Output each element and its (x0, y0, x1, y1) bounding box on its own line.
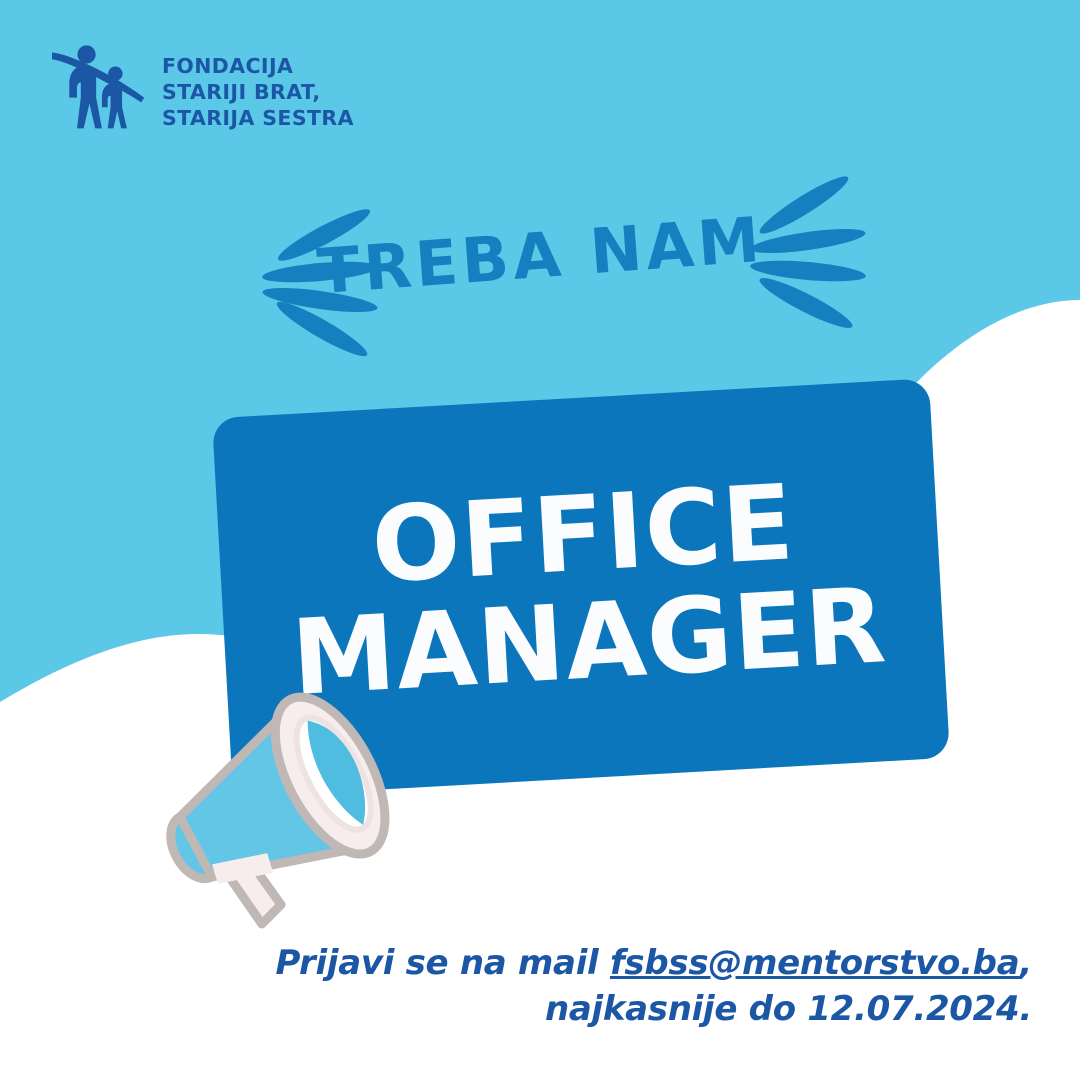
footer-text: Prijavi se na mail fsbss@mentorstvo.ba, … (0, 940, 1080, 1032)
footer-suffix: , (1019, 943, 1032, 983)
footer-prefix: Prijavi se na mail (275, 943, 609, 983)
logo: FONDACIJA STARIJI BRAT, STARIJA SESTRA (52, 42, 354, 138)
poster-canvas: FONDACIJA STARIJI BRAT, STARIJA SESTRA (0, 0, 1080, 1080)
footer-line-2: najkasnije do 12.07.2024. (0, 986, 1032, 1032)
two-figures-icon (52, 42, 148, 138)
footer-line-1: Prijavi se na mail fsbss@mentorstvo.ba, (0, 940, 1032, 986)
logo-text: FONDACIJA STARIJI BRAT, STARIJA SESTRA (162, 53, 354, 132)
email-link[interactable]: fsbss@mentorstvo.ba (610, 943, 1019, 983)
megaphone-icon (128, 666, 428, 936)
